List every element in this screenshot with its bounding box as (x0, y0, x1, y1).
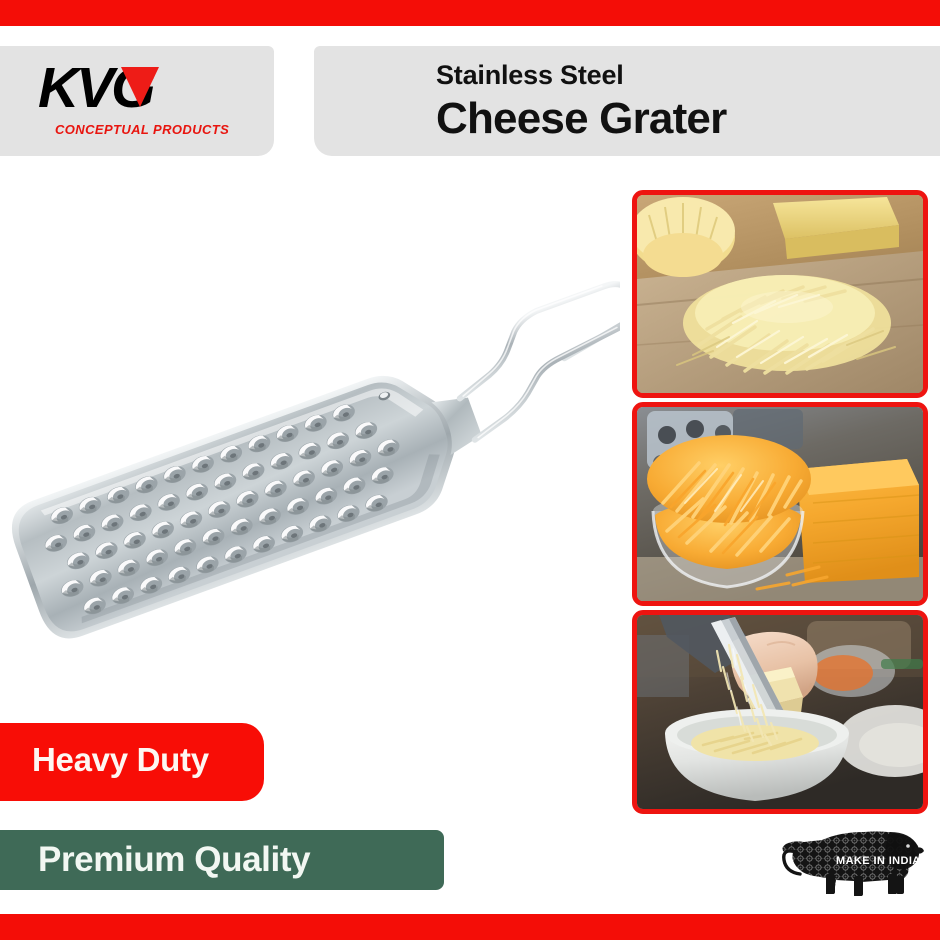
brand-tagline: CONCEPTUAL PRODUCTS (55, 122, 229, 137)
hero-product-image (0, 180, 620, 700)
top-red-banner (0, 0, 940, 26)
make-in-india-logo: MAKE IN INDIA (778, 818, 926, 902)
badge-premium-quality-label: Premium Quality (38, 840, 310, 880)
gallery-photo-2[interactable] (632, 402, 928, 606)
badge-heavy-duty-label: Heavy Duty (32, 741, 209, 779)
red-triangle-icon (121, 67, 159, 107)
product-title: Stainless Steel Cheese Grater (436, 59, 726, 145)
product-title-main: Cheese Grater (436, 93, 726, 145)
gallery-photo-1[interactable] (632, 190, 928, 398)
brand-logo: KVG CONCEPTUAL PRODUCTS (18, 62, 258, 144)
bottom-red-banner (0, 914, 940, 940)
badge-premium-quality: Premium Quality (0, 830, 444, 890)
product-title-panel: Stainless Steel Cheese Grater (314, 46, 940, 156)
badge-heavy-duty: Heavy Duty (0, 723, 264, 801)
make-in-india-label: MAKE IN INDIA (836, 855, 921, 867)
brand-logo-panel: KVG CONCEPTUAL PRODUCTS (0, 46, 274, 156)
product-title-material: Stainless Steel (436, 59, 726, 91)
gallery-photo-3[interactable] (632, 610, 928, 814)
product-listing-canvas: KVG CONCEPTUAL PRODUCTS Stainless Steel … (0, 0, 940, 940)
